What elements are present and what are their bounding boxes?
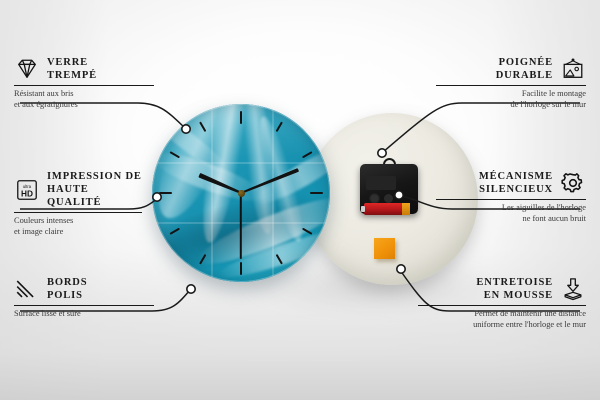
callout-rule bbox=[14, 305, 154, 306]
clock-mechanism bbox=[360, 158, 418, 214]
callout-header: POIGNÉE DURABLE bbox=[436, 56, 586, 82]
callout-rule bbox=[14, 85, 154, 86]
callout-rule bbox=[436, 85, 586, 86]
callout-rule bbox=[14, 212, 142, 213]
battery-label bbox=[402, 203, 410, 215]
battery bbox=[364, 203, 410, 215]
polished-edges-icon bbox=[14, 277, 40, 301]
mechanism-body bbox=[360, 164, 418, 214]
callout-description: Les aiguilles de l'horloge ne font aucun… bbox=[436, 203, 586, 224]
callout-description: Résistant aux bris et aux égratignures bbox=[14, 89, 154, 110]
callout-header: VERRE TREMPÉ bbox=[14, 56, 154, 82]
diamond-icon bbox=[14, 57, 40, 81]
callout-title: MÉCANISME SILENCIEUX bbox=[479, 170, 553, 196]
callout-entretoise-en-mousse[interactable]: ENTRETOISE EN MOUSSE Permet de maintenir… bbox=[418, 276, 586, 330]
callout-header: ultra HD IMPRESSION DE HAUTE QUALITÉ bbox=[14, 170, 144, 209]
second-hand bbox=[240, 193, 242, 259]
callout-description: Permet de maintenir une distance uniform… bbox=[418, 309, 586, 330]
callout-rule bbox=[436, 199, 586, 200]
callout-title: POIGNÉE DURABLE bbox=[496, 56, 553, 82]
infographic-stage: VERRE TREMPÉ Résistant aux bris et aux é… bbox=[0, 0, 600, 400]
hour-marker-12 bbox=[240, 104, 242, 193]
callout-description: Couleurs intenses et image claire bbox=[14, 216, 144, 237]
svg-text:HD: HD bbox=[21, 188, 33, 198]
callout-header: MÉCANISME SILENCIEUX bbox=[436, 170, 586, 196]
callout-bords-polis[interactable]: BORDS POLIS Surface lisse et sûre bbox=[14, 276, 154, 320]
callout-title: BORDS POLIS bbox=[47, 276, 87, 302]
foam-spacer-icon bbox=[560, 277, 586, 301]
battery-terminal bbox=[361, 206, 365, 212]
clock-front-face bbox=[152, 104, 330, 282]
ultra-hd-badge-icon: ultra HD bbox=[14, 178, 40, 202]
callout-description: Facilite le montage de l'horloge sur le … bbox=[436, 89, 586, 110]
mechanism-dial-secondary bbox=[384, 194, 393, 203]
hands-center-cap bbox=[238, 190, 245, 197]
callout-poignee-durable[interactable]: POIGNÉE DURABLE Facilite le montage de l… bbox=[436, 56, 586, 110]
callout-header: ENTRETOISE EN MOUSSE bbox=[418, 276, 586, 302]
hour-marker-3 bbox=[241, 192, 330, 194]
callout-title: IMPRESSION DE HAUTE QUALITÉ bbox=[47, 170, 144, 209]
callout-header: BORDS POLIS bbox=[14, 276, 154, 302]
hour-marker-9 bbox=[152, 192, 241, 194]
gear-icon bbox=[560, 171, 586, 195]
callout-rule bbox=[418, 305, 586, 306]
callout-title: VERRE TREMPÉ bbox=[47, 56, 97, 82]
foam-spacer-pad bbox=[374, 238, 395, 259]
callout-title: ENTRETOISE EN MOUSSE bbox=[476, 276, 553, 302]
picture-hanger-icon bbox=[560, 57, 586, 81]
callout-mecanisme-silencieux[interactable]: MÉCANISME SILENCIEUX Les aiguilles de l'… bbox=[436, 170, 586, 224]
callout-verre-trempe[interactable]: VERRE TREMPÉ Résistant aux bris et aux é… bbox=[14, 56, 154, 110]
callout-description: Surface lisse et sûre bbox=[14, 309, 154, 320]
mechanism-panel bbox=[366, 176, 396, 190]
callout-impression-haute-qualite[interactable]: ultra HD IMPRESSION DE HAUTE QUALITÉ Cou… bbox=[14, 170, 144, 237]
